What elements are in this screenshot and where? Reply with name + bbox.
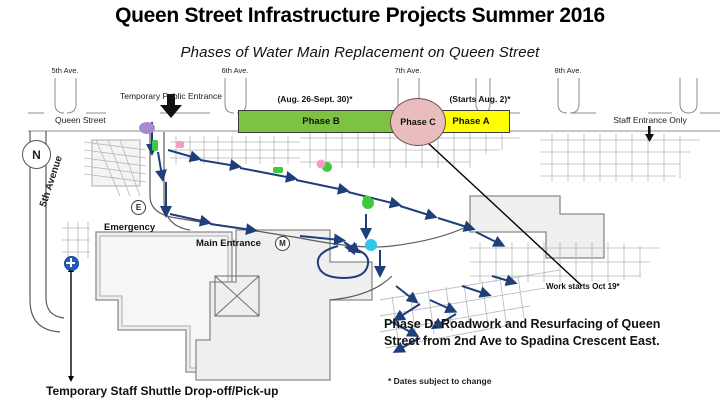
marker-green-2 — [273, 167, 283, 173]
annotation-shuttle: Temporary Staff Shuttle Drop-off/Pick-up — [46, 384, 278, 398]
annotation-footnote: * Dates subject to change — [388, 376, 491, 386]
marker-green-1 — [152, 140, 158, 151]
compass-north-label: N — [32, 148, 41, 162]
avenue-label-6th: 6th Ave. — [207, 66, 263, 75]
emergency-badge-letter: E — [136, 203, 141, 212]
annotation-phase-d: Phase D: Roadwork and Resurfacing of Que… — [384, 316, 689, 350]
marker-pink-1 — [176, 141, 184, 148]
main-entrance-badge-icon: M — [275, 236, 290, 251]
avenue-label-5th: 5th Ave. — [37, 66, 93, 75]
phase-c-label: Phase C — [400, 117, 436, 127]
marker-purple — [139, 122, 155, 134]
marker-pink-2 — [317, 160, 326, 169]
avenue-label-7th: 7th Ave. — [380, 66, 436, 75]
poster-root: Queen Street Infrastructure Projects Sum… — [0, 0, 720, 409]
avenue-label-8th: 8th Ave. — [540, 66, 596, 75]
label-emergency: Emergency — [104, 222, 155, 233]
emergency-badge-icon: E — [131, 200, 146, 215]
phase-a-label: Phase A — [452, 116, 489, 127]
phase-b-label: Phase B — [302, 116, 340, 127]
label-staff-entrance-only: Staff Entrance Only — [596, 115, 704, 125]
marker-green-5 — [363, 196, 371, 203]
main-entrance-badge-letter: M — [279, 239, 286, 248]
shuttle-marker-icon — [64, 256, 79, 271]
annotation-work-starts: Work starts Oct 19* — [546, 282, 620, 291]
phase-b-date: (Aug. 26-Sept. 30)* — [250, 94, 380, 104]
street-label-queen: Queen Street — [55, 115, 106, 125]
phase-c-ellipse[interactable]: Phase C — [390, 98, 446, 146]
phase-b-bar[interactable]: Phase B — [238, 110, 404, 133]
label-temporary-public-entrance: Temporary Public Entrance — [96, 91, 246, 101]
marker-cyan — [365, 239, 377, 251]
label-main-entrance: Main Entrance — [196, 238, 261, 249]
phase-a-date: (Starts Aug. 2)* — [420, 94, 540, 104]
compass-needle-icon — [33, 131, 41, 140]
compass-icon: N — [22, 140, 51, 169]
